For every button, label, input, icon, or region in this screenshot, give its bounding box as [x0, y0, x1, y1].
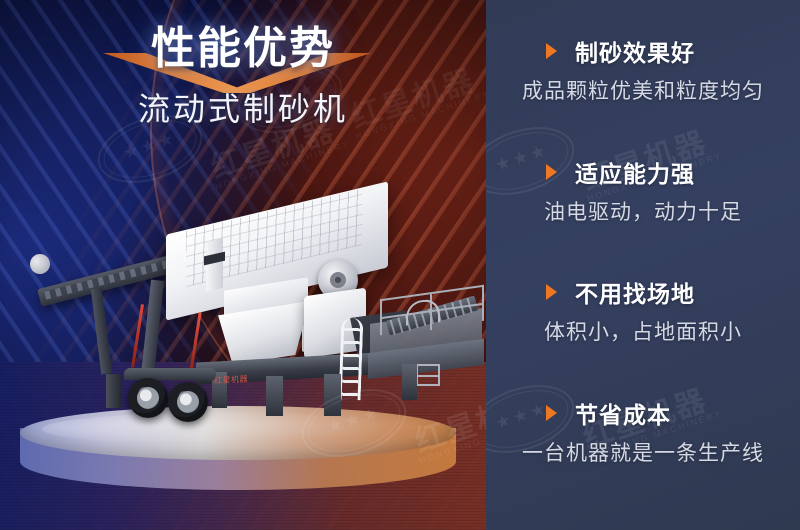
feature-item-1: 制砂效果好 成品颗粒优美和粒度均匀 — [486, 36, 800, 105]
feature-heading-row: 节省成本 — [486, 398, 800, 428]
feature-heading-row: 制砂效果好 — [486, 36, 800, 66]
triangle-bullet-icon — [546, 284, 557, 300]
conveyor-head-pulley — [28, 252, 52, 276]
wheel-rear — [168, 382, 208, 422]
feature-item-4: 节省成本 一台机器就是一条生产线 — [486, 398, 800, 467]
feature-item-2: 适应能力强 油电驱动，动力十足 — [486, 157, 800, 226]
support-leg-4 — [402, 364, 417, 400]
wheel-front — [128, 378, 168, 418]
feature-title: 节省成本 — [575, 396, 671, 430]
triangle-bullet-icon — [546, 405, 557, 421]
feature-description: 油电驱动，动力十足 — [486, 196, 800, 226]
page-title: 性能优势 — [0, 26, 486, 72]
landing-jack — [106, 374, 122, 408]
access-ladder — [339, 318, 364, 401]
mobile-sand-making-machine: 红星机器 — [18, 196, 484, 432]
promo-banner: 红星机器 ★★★ 红星机器 HONGXING MACHINERY ★★★ 红星机… — [0, 0, 800, 530]
triangle-bullet-icon — [546, 43, 557, 59]
conveyor-strut-2 — [141, 280, 164, 377]
feature-description: 一台机器就是一条生产线 — [486, 437, 800, 467]
feature-item-3: 不用找场地 体积小，占地面积小 — [486, 277, 800, 346]
left-visual-panel: 红星机器 ★★★ 红星机器 HONGXING MACHINERY ★★★ 红星机… — [0, 0, 486, 530]
triangle-bullet-icon — [546, 164, 557, 180]
feature-heading-row: 不用找场地 — [486, 277, 800, 307]
feature-title: 适应能力强 — [575, 155, 695, 189]
page-subtitle: 流动式制砂机 — [0, 84, 486, 130]
small-step-ladder — [416, 364, 440, 386]
conveyor-strut-1 — [91, 288, 112, 375]
motor-left — [206, 238, 223, 292]
feature-description: 成品颗粒优美和粒度均匀 — [486, 75, 800, 105]
feature-list-panel: ★★★ 红星机器 HONGXING MACHINERY ★★★ 红星机器 HON… — [486, 0, 800, 530]
feature-heading-row: 适应能力强 — [486, 157, 800, 187]
feature-title: 不用找场地 — [575, 275, 695, 309]
feature-title: 制砂效果好 — [575, 34, 695, 68]
feature-description: 体积小，占地面积小 — [486, 316, 800, 346]
wheel-fender — [124, 368, 216, 380]
